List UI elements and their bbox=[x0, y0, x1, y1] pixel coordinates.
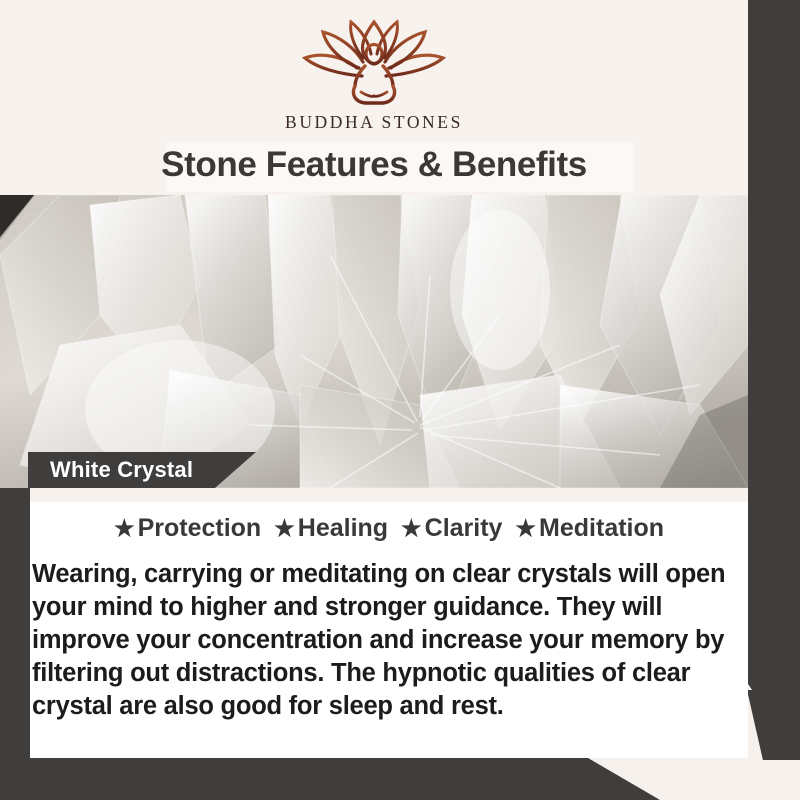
infographic-card: BUDDHA STONES Stone Features & Benefits bbox=[0, 0, 800, 800]
benefit-label: Meditation bbox=[539, 514, 664, 542]
benefit-label: Healing bbox=[298, 514, 388, 542]
brand-logo: BUDDHA STONES bbox=[0, 16, 748, 133]
star-icon: ★ bbox=[401, 515, 422, 541]
page-title: Stone Features & Benefits bbox=[0, 140, 748, 190]
benefit-label: Protection bbox=[138, 514, 262, 542]
star-icon: ★ bbox=[515, 515, 536, 541]
benefits-row: ★Protection ★Healing ★Clarity ★Meditatio… bbox=[30, 514, 748, 543]
frame-corner-bottom-right bbox=[747, 690, 800, 760]
header-section: BUDDHA STONES Stone Features & Benefits bbox=[0, 0, 748, 196]
benefit-item-meditation: ★Meditation bbox=[515, 514, 664, 542]
benefit-item-protection: ★Protection bbox=[114, 514, 261, 542]
star-icon: ★ bbox=[114, 515, 135, 541]
benefit-item-healing: ★Healing bbox=[274, 514, 388, 542]
brand-name: BUDDHA STONES bbox=[285, 112, 463, 133]
panel-top-strip bbox=[30, 488, 748, 502]
frame-edge-bottom bbox=[0, 758, 660, 800]
stone-name-label: White Crystal bbox=[28, 452, 256, 483]
frame-edge-right bbox=[748, 0, 800, 760]
star-icon: ★ bbox=[274, 515, 295, 541]
description-text: Wearing, carrying or meditating on clear… bbox=[32, 558, 750, 723]
crystal-photo bbox=[0, 195, 748, 488]
benefit-label: Clarity bbox=[425, 514, 503, 542]
benefit-item-clarity: ★Clarity bbox=[401, 514, 502, 542]
lotus-meditation-figure-icon bbox=[299, 16, 449, 108]
